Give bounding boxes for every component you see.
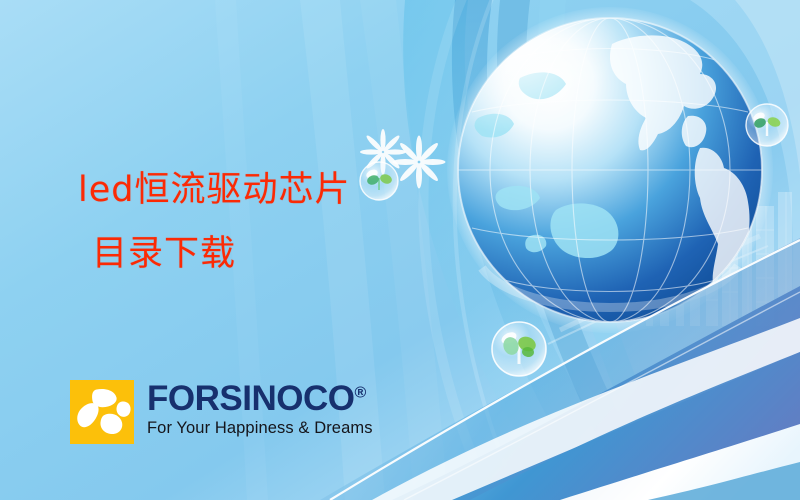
forsinoco-four-petal-mark [70, 380, 134, 444]
banner-content: led恒流驱动芯片 目录下载 FORSINOCO® For Your Happi… [0, 0, 800, 500]
headline: led恒流驱动芯片 目录下载 [78, 163, 498, 282]
brand-name: FORSINOCO® [147, 381, 373, 416]
registered-trademark-icon: ® [354, 384, 366, 401]
headline-line-2: 目录下载 [78, 227, 498, 281]
brand-name-text: FORSINOCO [147, 379, 354, 418]
company-logo: FORSINOCO® For Your Happiness & Dreams [70, 380, 373, 444]
logo-wordmark: FORSINOCO® For Your Happiness & Dreams [147, 380, 373, 437]
banner-image: led恒流驱动芯片 目录下载 FORSINOCO® For Your Happi… [0, 0, 800, 500]
headline-line-1: led恒流驱动芯片 [78, 163, 498, 217]
brand-tagline: For Your Happiness & Dreams [147, 420, 373, 437]
